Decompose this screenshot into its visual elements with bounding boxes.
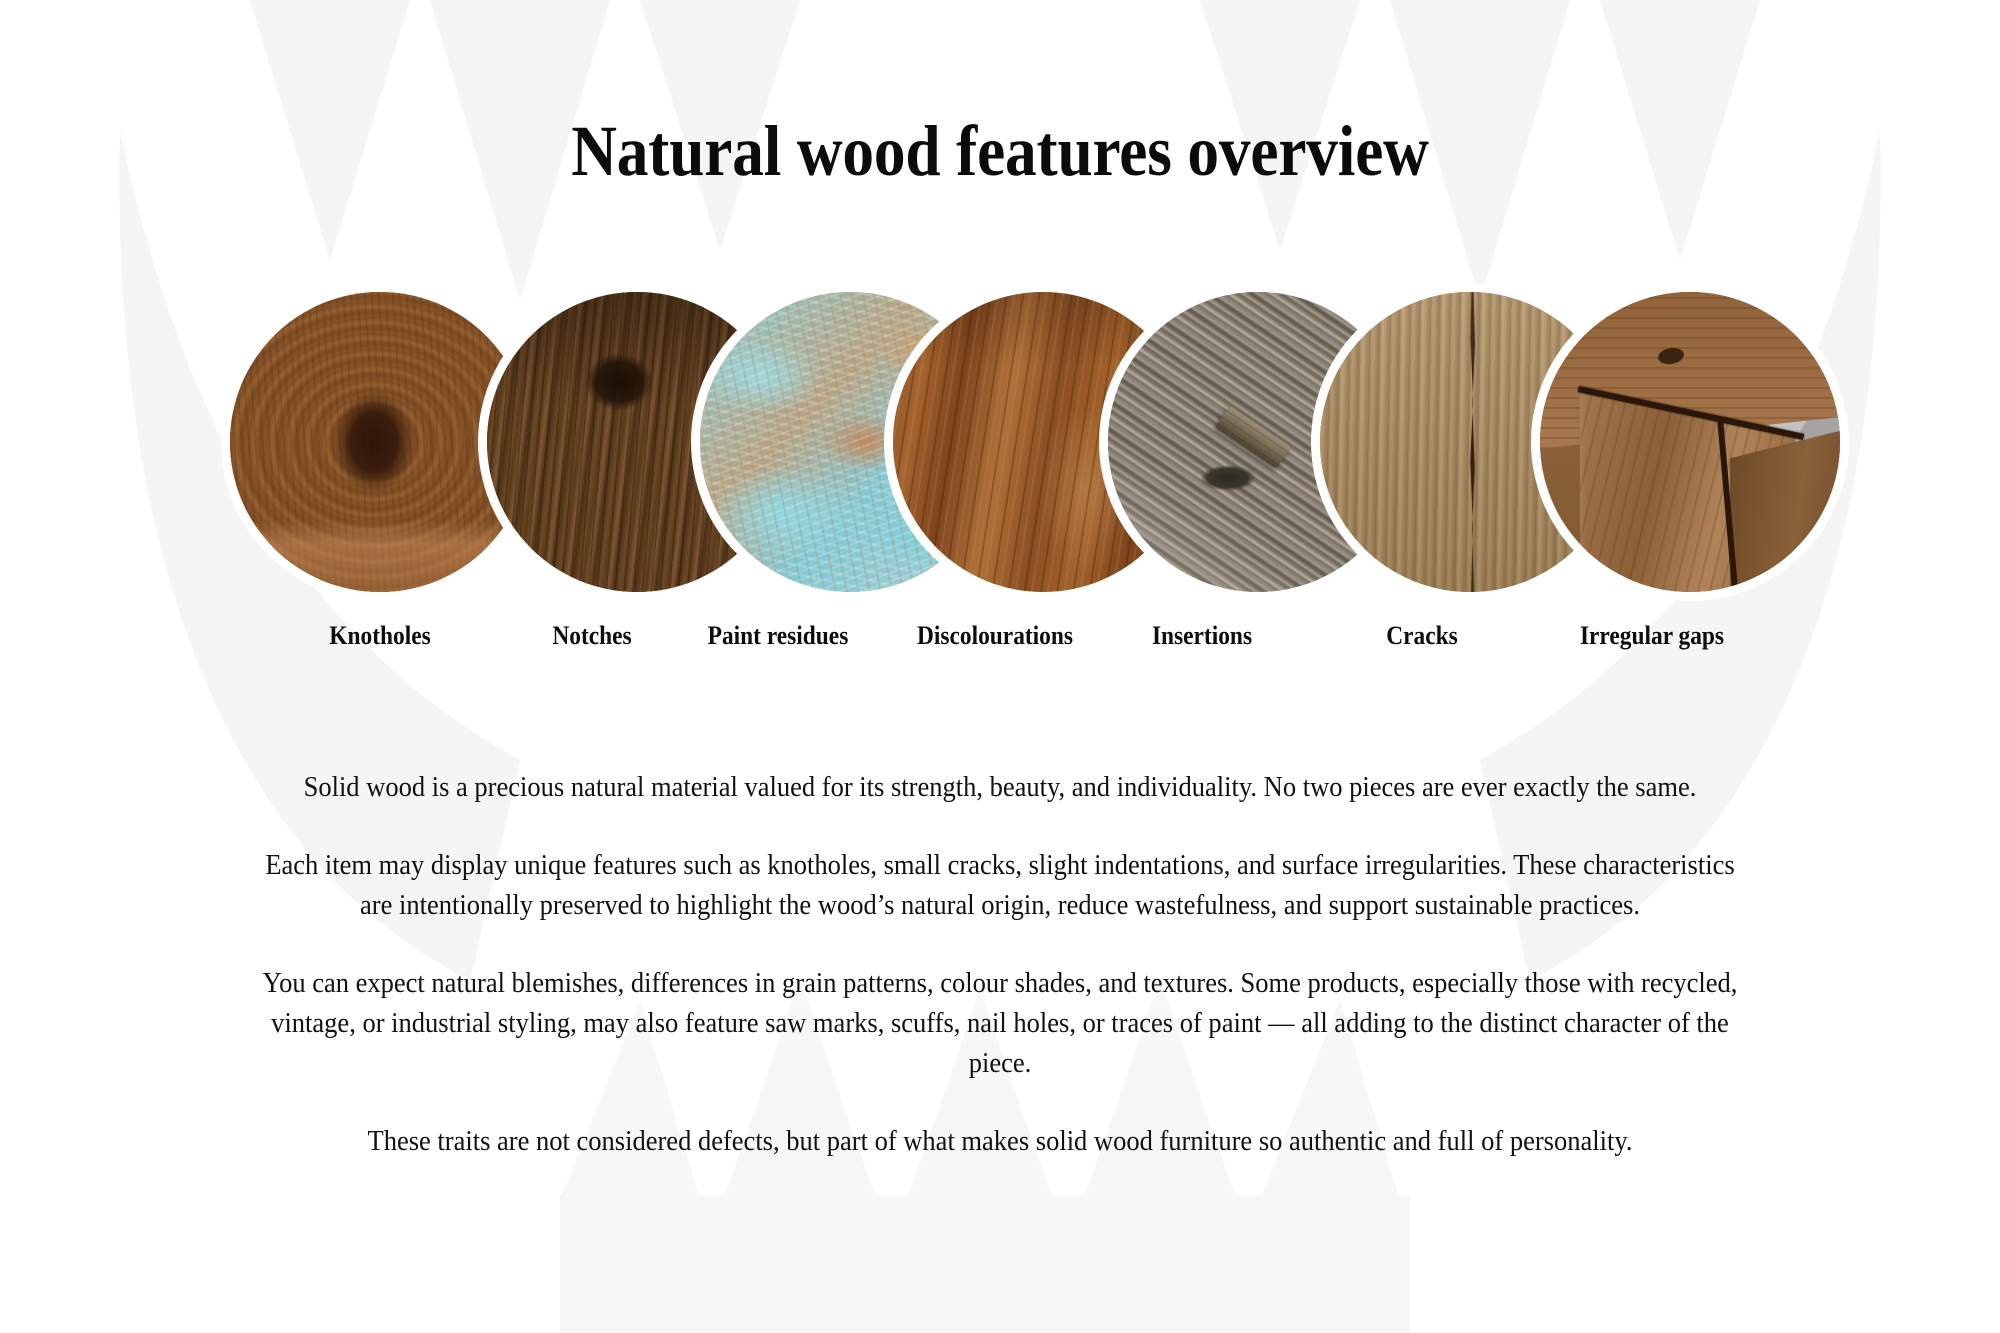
wood-features-infographic: Natural wood features overview <box>0 0 2000 1333</box>
paragraph-closing: These traits are not considered defects,… <box>210 1122 1791 1162</box>
paragraph-features: Each item may display unique features su… <box>247 846 1754 926</box>
wood-knothole-circle-image <box>230 292 530 592</box>
page-title: Natural wood features overview <box>120 112 1880 190</box>
embedded-insert-shape <box>1215 406 1291 469</box>
wood-irregular-gap-circle-image <box>1540 292 1840 592</box>
feature-label-cracks: Cracks <box>1310 620 1535 652</box>
paragraph-expectations: You can expect natural blemishes, differ… <box>247 964 1754 1084</box>
body-copy: Solid wood is a precious natural materia… <box>150 768 1850 1162</box>
feature-label-paint-residues: Paint residues <box>666 620 891 652</box>
feature-circles-strip <box>0 292 2000 612</box>
feature-label-insertions: Insertions <box>1090 620 1315 652</box>
feature-label-discolourations: Discolourations <box>883 620 1108 652</box>
feature-labels-row: Knotholes Notches Paint residues Discolo… <box>0 620 2000 660</box>
crack-split-shape <box>1470 292 1475 592</box>
feature-label-irregular-gaps: Irregular gaps <box>1540 620 1765 652</box>
feature-circle-knotholes[interactable] <box>230 292 530 592</box>
paragraph-intro: Solid wood is a precious natural materia… <box>210 768 1791 808</box>
feature-label-knotholes: Knotholes <box>268 620 493 652</box>
feature-circle-irregular-gaps[interactable] <box>1540 292 1840 592</box>
